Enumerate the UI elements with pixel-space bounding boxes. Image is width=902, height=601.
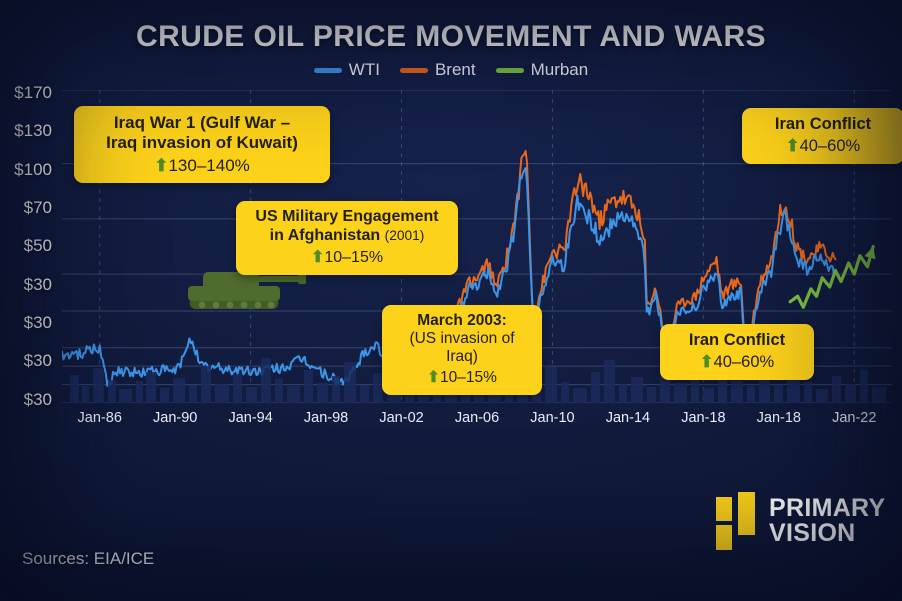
annotation-line-1: March 2003:: [394, 312, 530, 330]
annotation-percent-row: ⬆130–140%: [86, 155, 318, 176]
annotation-line-1: Iran Conflict: [754, 115, 892, 134]
annotation-line-1: Iran Conflict: [672, 331, 802, 350]
annotation-percent: 40–60%: [800, 137, 861, 155]
annotation-iran-conflict-top[interactable]: Iran Conflict ⬆40–60%: [742, 108, 902, 164]
annotation-iran-conflict-bottom[interactable]: Iran Conflict ⬆40–60%: [660, 324, 814, 380]
annotation-line-2-text: in Afghanistan: [270, 227, 385, 244]
annotation-line-1: Iraq War 1 (Gulf War –: [86, 113, 318, 133]
annotation-line-1: US Military Engagement: [248, 208, 446, 227]
infographic-root: CRUDE OIL PRICE MOVEMENT AND WARS WTI Br…: [0, 0, 902, 601]
annotation-line-2: Iraq invasion of Kuwait): [86, 133, 318, 153]
city-skyline-background: [0, 0, 902, 601]
annotation-percent-row: ⬆10–15%: [248, 248, 446, 268]
annotation-line-2: in Afghanistan (2001): [248, 227, 446, 246]
up-arrow-icon: ⬆: [427, 369, 440, 386]
annotation-percent: 130–140%: [168, 156, 249, 175]
annotation-percent-row: ⬆10–15%: [394, 368, 530, 387]
annotation-percent: 10–15%: [440, 369, 497, 386]
annotation-percent-row: ⬆40–60%: [754, 136, 892, 157]
up-arrow-icon: ⬆: [700, 353, 714, 371]
up-arrow-icon: ⬆: [154, 156, 168, 175]
up-arrow-icon: ⬆: [311, 249, 324, 266]
annotation-afghanistan[interactable]: US Military Engagement in Afghanistan (2…: [236, 201, 458, 275]
annotation-march-2003[interactable]: March 2003: (US invasion of Iraq) ⬆10–15…: [382, 305, 542, 395]
annotation-subtext: (US invasion of Iraq): [394, 330, 530, 366]
annotation-percent: 40–60%: [714, 353, 775, 371]
up-arrow-icon: ⬆: [786, 137, 800, 155]
annotation-percent-row: ⬆40–60%: [672, 352, 802, 373]
annotation-iraq-war-1[interactable]: Iraq War 1 (Gulf War – Iraq invasion of …: [74, 106, 330, 183]
annotation-subtext: (2001): [385, 228, 425, 243]
annotation-percent: 10–15%: [324, 249, 383, 266]
